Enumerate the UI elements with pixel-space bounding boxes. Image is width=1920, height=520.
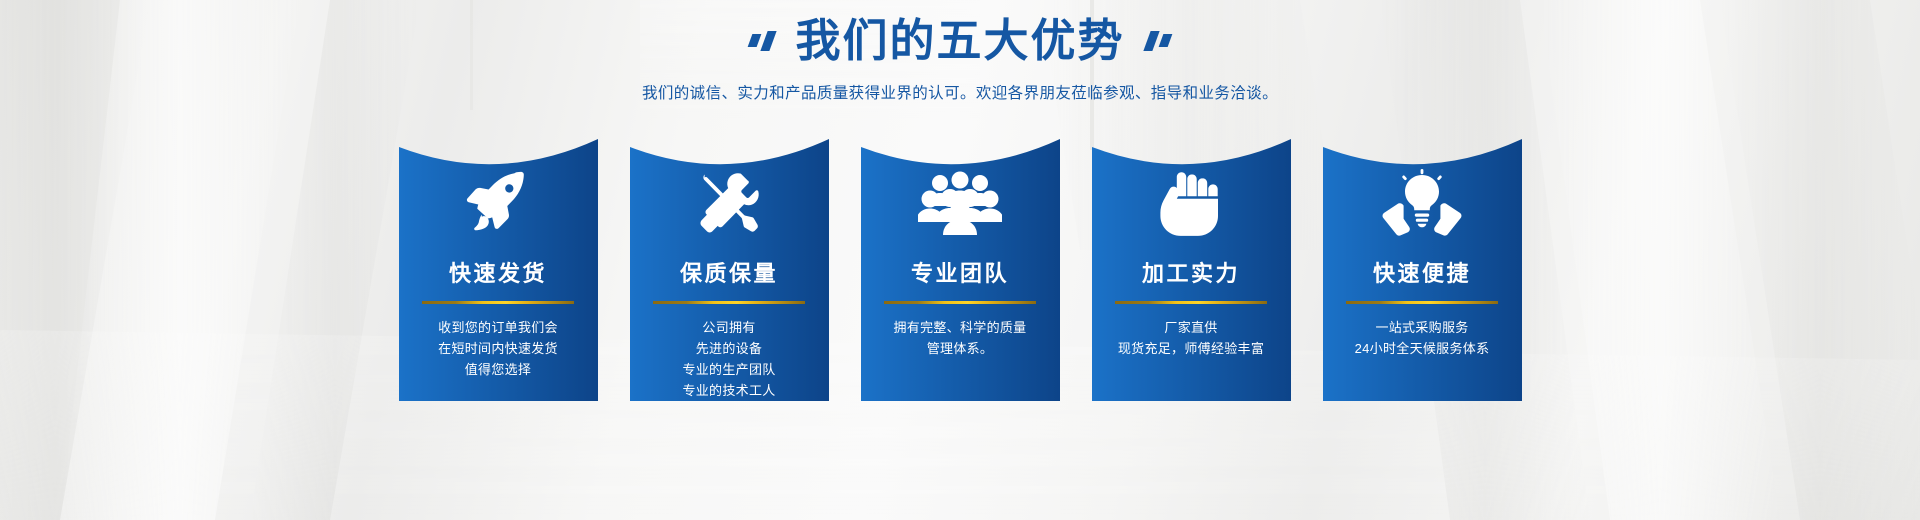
advantage-card-5[interactable]: 快速便捷 一站式采购服务 24小时全天候服务体系 [1323, 139, 1522, 401]
card-desc-line: 现货充足，师傅经验丰富 [1118, 338, 1264, 359]
advantage-card-2[interactable]: 保质保量 公司拥有 先进的设备 专业的生产团队 专业的技术工人 [630, 139, 829, 401]
fist-icon [1092, 139, 1291, 267]
card-description: 厂家直供 现货充足，师傅经验丰富 [1118, 317, 1264, 359]
advantage-card-1[interactable]: 快速发货 收到您的订单我们会 在短时间内快速发货 值得您选择 [399, 139, 598, 401]
card-desc-line: 一站式采购服务 [1355, 317, 1490, 338]
card-desc-line: 拥有完整、科学的质量 [893, 317, 1026, 338]
card-title: 加工实力 [1142, 263, 1240, 285]
card-description: 一站式采购服务 24小时全天候服务体系 [1355, 317, 1490, 359]
card-desc-line: 专业的生产团队 [682, 359, 775, 380]
card-desc-line: 收到您的订单我们会 [438, 317, 558, 338]
advantage-card-4[interactable]: 加工实力 厂家直供 现货充足，师傅经验丰富 [1092, 139, 1291, 401]
card-title: 保质保量 [680, 263, 778, 285]
slanted-quote-left-icon [750, 31, 773, 51]
card-title: 专业团队 [911, 263, 1009, 285]
card-desc-line: 先进的设备 [682, 338, 775, 359]
hands-lightbulb-icon [1323, 139, 1522, 267]
card-divider [884, 301, 1036, 304]
advantage-card-3[interactable]: 专业团队 拥有完整、科学的质量 管理体系。 [861, 139, 1060, 401]
team-people-icon [861, 139, 1060, 267]
card-desc-line: 在短时间内快速发货 [438, 338, 558, 359]
card-divider [1115, 301, 1267, 304]
title-row: 我们的五大优势 [0, 16, 1920, 66]
page-title: 我们的五大优势 [795, 16, 1124, 66]
card-divider [1346, 301, 1498, 304]
card-divider [422, 301, 574, 304]
card-title: 快速发货 [449, 263, 547, 285]
wrench-screwdriver-icon [630, 139, 829, 267]
card-description: 公司拥有 先进的设备 专业的生产团队 专业的技术工人 [682, 317, 775, 401]
card-desc-line: 公司拥有 [682, 317, 775, 338]
slanted-quote-right-icon [1147, 31, 1170, 51]
advantage-card-list: 快速发货 收到您的订单我们会 在短时间内快速发货 值得您选择 保质保量 [0, 139, 1920, 401]
card-desc-line: 值得您选择 [438, 359, 558, 380]
card-title: 快速便捷 [1373, 263, 1471, 285]
card-desc-line: 专业的技术工人 [682, 380, 775, 401]
card-divider [653, 301, 805, 304]
card-description: 拥有完整、科学的质量 管理体系。 [893, 317, 1026, 359]
card-desc-line: 管理体系。 [893, 338, 1026, 359]
section-header: 我们的五大优势 我们的诚信、实力和产品质量获得业界的认可。欢迎各界朋友莅临参观、… [0, 0, 1920, 103]
rocket-icon [399, 139, 598, 267]
card-desc-line: 厂家直供 [1118, 317, 1264, 338]
card-desc-line: 24小时全天候服务体系 [1355, 338, 1490, 359]
card-description: 收到您的订单我们会 在短时间内快速发货 值得您选择 [438, 317, 558, 380]
page-subtitle: 我们的诚信、实力和产品质量获得业界的认可。欢迎各界朋友莅临参观、指导和业务洽谈。 [0, 81, 1920, 103]
